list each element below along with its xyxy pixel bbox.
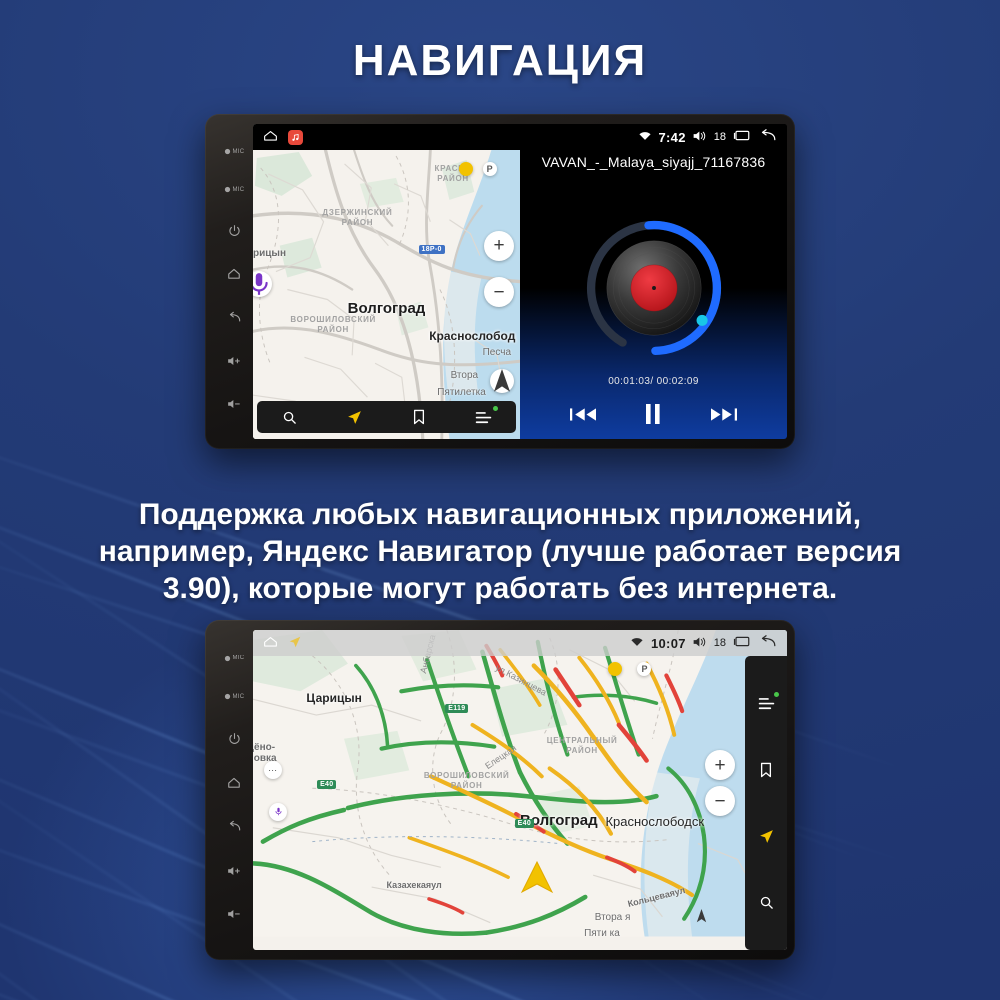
track-title: VAVAN_-_Malaya_siyajj_71167836 (520, 154, 787, 170)
status-bar-right: 7:42 18 (638, 129, 787, 146)
mic-indicator-2-icon: MIC (224, 186, 245, 193)
power-button-icon[interactable] (228, 224, 241, 237)
status-bar-left (253, 635, 302, 652)
bookmark-icon[interactable] (752, 758, 780, 782)
home-button-icon[interactable] (227, 267, 241, 280)
volume-icon (693, 636, 707, 651)
menu-icon[interactable] (469, 405, 499, 429)
status-bar-right: 10:07 18 (630, 635, 787, 652)
map1-road-shield: 18Р-0 (419, 245, 445, 254)
caption-line-2: например, Яндекс Навигатор (лучше работа… (62, 533, 938, 570)
power-button-icon[interactable] (228, 732, 241, 745)
map1-art (253, 150, 520, 439)
map1-canvas[interactable]: Волгоград Краснослобод ДЗЕРЖИНСКИЙ РАЙОН… (253, 150, 520, 439)
wifi-icon (630, 636, 644, 651)
caption-text: Поддержка любых навигационных приложений… (62, 496, 938, 607)
map1-voice-search-button[interactable] (253, 271, 272, 297)
map2-current-position-arrow (520, 860, 554, 901)
map2-zoom-in-button[interactable]: + (705, 750, 735, 780)
map2-shield-e40-left: E40 (317, 780, 336, 789)
mic-indicator-1-icon: MIC (224, 655, 245, 662)
next-track-button[interactable] (711, 406, 737, 423)
volume-level: 18 (714, 131, 726, 143)
navigation-arrow-icon[interactable] (752, 824, 780, 848)
device1-status-bar: 7:42 18 (253, 124, 787, 150)
map2-side-toolbar[interactable] (745, 656, 787, 950)
map1-poi-marker[interactable] (459, 162, 473, 176)
caption-line-1: Поддержка любых навигационных приложений… (62, 496, 938, 533)
car-head-unit-device-2: MIC MIC (205, 620, 795, 960)
disc-and-progress-ring (580, 214, 728, 362)
caption-line-3: 3.90), которые могут работать без интерн… (62, 570, 938, 607)
map2-shield-e40-right: E40 (515, 819, 534, 828)
back-button-icon[interactable] (227, 311, 242, 324)
search-icon[interactable] (274, 405, 304, 429)
device2-bezel: MIC MIC (215, 630, 253, 950)
position-arrow-icon (520, 860, 554, 896)
status-bar-time: 10:07 (651, 636, 686, 651)
map2-voice-icon[interactable] (269, 803, 287, 821)
volume-up-button-icon[interactable] (227, 865, 242, 877)
map1-bottom-navbar[interactable] (257, 401, 516, 433)
home-icon[interactable] (262, 635, 279, 651)
menu-badge-dot (493, 406, 498, 411)
volume-up-button-icon[interactable] (227, 355, 242, 367)
page-title: НАВИГАЦИЯ (0, 36, 1000, 86)
device1-split-view: Волгоград Краснослобод ДЗЕРЖИНСКИЙ РАЙОН… (253, 124, 787, 439)
recents-icon[interactable] (733, 129, 751, 145)
map2-chat-icon[interactable]: ··· (264, 761, 282, 779)
search-icon[interactable] (752, 891, 780, 915)
car-head-unit-device-1: MIC MIC (205, 114, 795, 449)
map2-compass-arrow[interactable] (696, 909, 707, 928)
pause-button[interactable] (643, 403, 663, 425)
navigation-map-pane[interactable]: Волгоград Краснослобод ДЗЕРЖИНСКИЙ РАЙОН… (253, 124, 520, 439)
wifi-icon (638, 130, 652, 145)
playback-time: 00:01:03/ 00:02:09 (520, 376, 787, 387)
volume-icon (693, 130, 707, 145)
map2-poi-marker[interactable] (608, 662, 622, 676)
home-icon[interactable] (262, 129, 279, 145)
music-player-pane[interactable]: VAVAN_-_Malaya_siyajj_71167836 (520, 124, 787, 439)
device2-screen[interactable]: Царицын дёно- новка Волгоград Краснослоб… (253, 630, 787, 950)
map1-viewport[interactable]: Волгоград Краснослобод ДЗЕРЖИНСКИЙ РАЙОН… (253, 150, 520, 439)
map2-canvas[interactable]: Царицын дёно- новка Волгоград Краснослоб… (253, 630, 787, 950)
back-icon[interactable] (758, 635, 777, 652)
back-icon[interactable] (758, 129, 777, 146)
map1-zoom-in-button[interactable]: + (484, 231, 514, 261)
navigation-arrow-icon[interactable] (339, 405, 369, 429)
map1-parking-icon[interactable]: P (483, 162, 497, 176)
volume-down-button-icon[interactable] (227, 398, 242, 410)
device1-screen[interactable]: Волгоград Краснослобод ДЗЕРЖИНСКИЙ РАЙОН… (253, 124, 787, 439)
status-bar-left (253, 129, 303, 145)
status-bar-time: 7:42 (659, 130, 686, 145)
menu-icon[interactable] (752, 691, 780, 715)
navigation-arrow-icon[interactable] (288, 635, 302, 652)
device1-bezel: MIC MIC (215, 124, 253, 439)
previous-track-button[interactable] (570, 406, 596, 423)
mic-indicator-1-icon: MIC (224, 148, 245, 155)
mic-indicator-2-icon: MIC (224, 693, 245, 700)
map2-shield-e119: E119 (445, 704, 468, 713)
device2-status-bar: 10:07 18 (253, 630, 787, 656)
recents-icon[interactable] (733, 635, 751, 651)
map2-zoom-controls[interactable]: + − (705, 750, 735, 816)
map1-zoom-out-button[interactable]: − (484, 277, 514, 307)
menu-badge-dot (774, 692, 779, 697)
player-controls[interactable] (520, 403, 787, 425)
music-note-icon[interactable] (288, 130, 303, 145)
bookmark-icon[interactable] (404, 405, 434, 429)
volume-down-button-icon[interactable] (227, 908, 242, 920)
map1-compass-button[interactable] (490, 369, 514, 393)
home-button-icon[interactable] (227, 776, 241, 789)
map2-zoom-out-button[interactable]: − (705, 786, 735, 816)
album-disc[interactable] (580, 214, 728, 362)
volume-level: 18 (714, 637, 726, 649)
back-button-icon[interactable] (227, 820, 242, 833)
